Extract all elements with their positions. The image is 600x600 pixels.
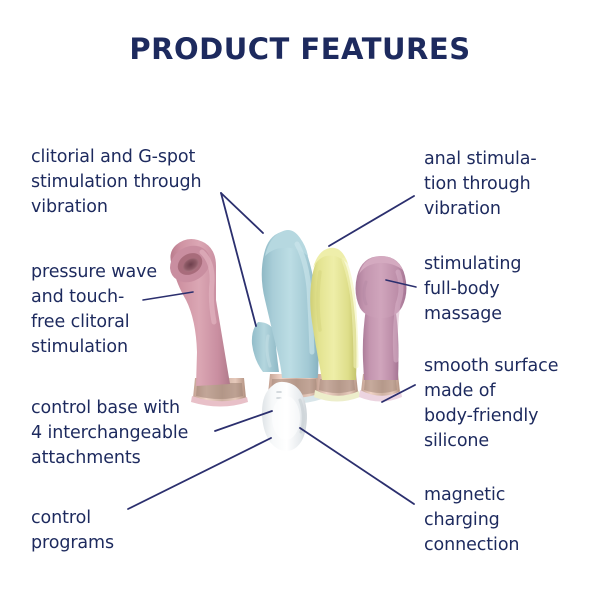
label-smooth-silicone: smooth surface made of body-friendly sil… bbox=[424, 354, 599, 453]
leader-line-smooth-silicone bbox=[382, 385, 415, 402]
label-anal-stimulation: anal stimula- tion through vibration bbox=[424, 147, 594, 222]
teal-rabbit-attachment bbox=[252, 230, 322, 404]
page-title: PRODUCT FEATURES bbox=[0, 32, 600, 66]
mauve-massage-attachment bbox=[356, 256, 407, 402]
label-pressure-wave: pressure wave and touch- free clitoral s… bbox=[31, 260, 211, 359]
leader-line-magnetic-charging bbox=[300, 428, 414, 504]
label-clitoral-g-spot: clitorial and G-spot stimulation through… bbox=[31, 145, 231, 220]
label-control-base: control base with 4 interchangeable atta… bbox=[31, 396, 231, 471]
leader-line-anal-stimulation bbox=[329, 196, 414, 246]
yellow-anal-attachment bbox=[310, 248, 360, 402]
label-control-programs: control programs bbox=[31, 506, 191, 556]
leader-line-full-body-massage bbox=[386, 280, 416, 287]
white-control-base bbox=[262, 382, 307, 451]
label-full-body-massage: stimulating full-body massage bbox=[424, 252, 594, 327]
label-magnetic-charging: magnetic charging connection bbox=[424, 483, 599, 558]
product-features-infographic: PRODUCT FEATURES bbox=[0, 0, 600, 600]
